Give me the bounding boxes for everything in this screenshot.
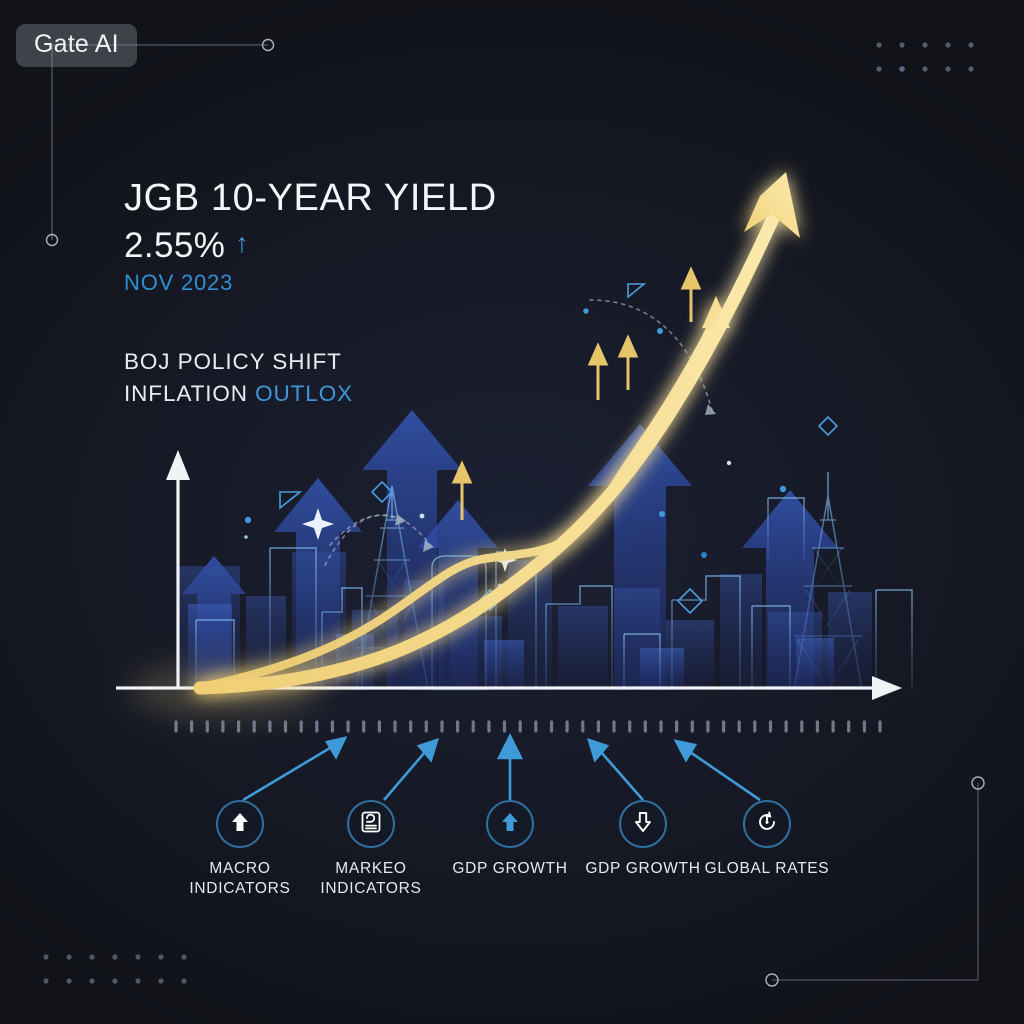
legend-item-label: MARKEOINDICATORS bbox=[296, 859, 446, 900]
timer-reset-icon bbox=[755, 810, 779, 839]
arrow-silhouette-6 bbox=[182, 556, 246, 690]
dot-grid-bottom-left bbox=[43, 954, 186, 983]
arrow-down-icon bbox=[631, 810, 655, 839]
yield-value: 2.55% bbox=[124, 228, 225, 263]
particle-sparkles bbox=[302, 508, 517, 572]
skyline-outlines bbox=[196, 472, 912, 690]
primary-arrowhead bbox=[744, 172, 800, 238]
legend-item-label: GDP GROWTH bbox=[435, 859, 585, 879]
watermark-badge: Gate AI bbox=[16, 24, 137, 67]
legend-item[interactable]: MARKEOINDICATORS bbox=[296, 800, 446, 900]
legend-label-line-1: GDP GROWTH bbox=[452, 860, 567, 877]
connector-arrow-3 bbox=[499, 736, 521, 800]
y-axis-arrowhead bbox=[166, 450, 190, 480]
dot-grid-top-right bbox=[876, 42, 973, 71]
monitor-icon bbox=[359, 810, 383, 839]
x-axis-arrowhead bbox=[872, 676, 902, 700]
subtitle-block: BOJ POLICY SHIFT INFLATION OUTLOX bbox=[124, 346, 353, 410]
legend-label-line-1: GLOBAL RATES bbox=[705, 860, 830, 877]
arrow-up-icon bbox=[498, 810, 522, 839]
arrow-up-icon bbox=[228, 810, 252, 839]
connector-arrow-4 bbox=[589, 740, 643, 800]
subtitle-line-2-accent: OUTLOX bbox=[255, 381, 353, 406]
legend-item[interactable]: GDP GROWTH bbox=[435, 800, 585, 879]
arrow-silhouette-4 bbox=[418, 500, 498, 690]
legend-item[interactable]: GLOBAL RATES bbox=[692, 800, 842, 879]
infographic-canvas: Gate AI JGB 10-YEAR YIELD 2.55% ↑ NOV 20… bbox=[0, 0, 1024, 1024]
watermark-label: Gate AI bbox=[34, 30, 119, 58]
legend-row: MACROINDICATORSMARKEOINDICATORSGDP GROWT… bbox=[0, 800, 1024, 920]
particle-diamonds bbox=[372, 417, 837, 613]
dotted-arcs bbox=[325, 300, 712, 565]
legend-item-label: GLOBAL RATES bbox=[692, 859, 842, 879]
small-up-arrows bbox=[454, 270, 699, 520]
legend-icon-ring[interactable] bbox=[347, 800, 395, 848]
connector-arrow-5 bbox=[676, 741, 760, 800]
subtitle-line-1: BOJ POLICY SHIFT bbox=[124, 346, 353, 378]
arrow-silhouette-5 bbox=[742, 490, 838, 690]
connector-arrow-1 bbox=[243, 738, 345, 800]
skyline-near-blocks bbox=[188, 604, 834, 690]
origin-glow bbox=[130, 664, 320, 716]
value-row: 2.55% ↑ bbox=[124, 228, 497, 263]
legend-label-line-1: MARKEO bbox=[335, 860, 406, 877]
chart-axes bbox=[116, 450, 902, 700]
axis-tick-row bbox=[176, 722, 880, 731]
legend-icon-ring[interactable] bbox=[743, 800, 791, 848]
headline-block: JGB 10-YEAR YIELD 2.55% ↑ NOV 2023 bbox=[124, 178, 497, 294]
legend-connector-arrows bbox=[243, 736, 760, 800]
subtitle-line-2-primary: INFLATION bbox=[124, 381, 248, 406]
trend-up-icon: ↑ bbox=[235, 230, 249, 257]
legend-item[interactable]: MACROINDICATORS bbox=[165, 800, 315, 900]
dotted-arc-arrowheads bbox=[395, 404, 716, 552]
legend-item-label: MACROINDICATORS bbox=[165, 859, 315, 900]
legend-label-line-2: INDICATORS bbox=[296, 879, 446, 899]
legend-label-line-2: INDICATORS bbox=[165, 879, 315, 899]
arrow-silhouette-3 bbox=[274, 478, 362, 690]
legend-label-line-1: MACRO bbox=[209, 860, 270, 877]
connector-arrow-2 bbox=[384, 740, 437, 800]
legend-label-line-1: GDP GROWTH bbox=[585, 860, 700, 877]
period-label: NOV 2023 bbox=[124, 272, 497, 294]
legend-icon-ring[interactable] bbox=[619, 800, 667, 848]
arrow-silhouette-1 bbox=[362, 410, 462, 690]
subtitle-line-2: INFLATION OUTLOX bbox=[124, 378, 353, 410]
page-title: JGB 10-YEAR YIELD bbox=[124, 178, 497, 218]
legend-icon-ring[interactable] bbox=[486, 800, 534, 848]
arrow-silhouette-2 bbox=[588, 424, 692, 690]
legend-icon-ring[interactable] bbox=[216, 800, 264, 848]
skyline-far-blocks bbox=[178, 552, 872, 690]
